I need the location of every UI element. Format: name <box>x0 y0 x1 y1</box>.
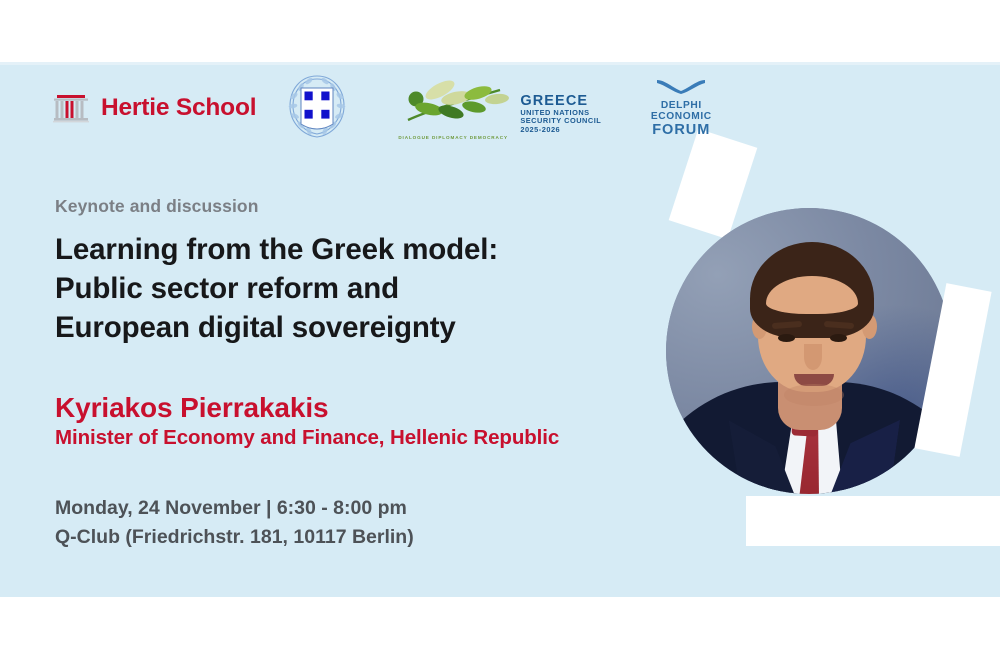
event-kicker: Keynote and discussion <box>55 196 655 217</box>
hertie-school-wordmark: Hertie School <box>101 96 256 121</box>
unsc-line-years: 2025-2026 <box>520 126 601 134</box>
event-headline: Learning from the Greek model: Public se… <box>55 231 655 348</box>
olive-branch-icon: DIALOGUE DIPLOMACY DEMOCRACY <box>396 76 514 144</box>
logo-delphi-economic-forum: DELPHI ECONOMIC FORUM <box>645 74 717 142</box>
portrait-photo <box>666 208 952 494</box>
portrait-nose <box>804 344 822 370</box>
event-venue: Q-Club (Friedrichstr. 181, 10117 Berlin) <box>55 523 655 553</box>
logo-hertie-school: Hertie School <box>52 72 256 144</box>
delphi-line-3: FORUM <box>652 123 710 138</box>
event-date-time: Monday, 24 November | 6:30 - 8:00 pm <box>55 494 655 524</box>
logo-strip: Hertie School <box>52 72 717 144</box>
unsc-line-greece: GREECE <box>520 93 601 109</box>
speaker-name: Kyriakos Pierrakakis <box>55 392 655 424</box>
speaker-role: Minister of Economy and Finance, Helleni… <box>55 426 655 450</box>
poster-content: Keynote and discussion Learning from the… <box>55 196 655 553</box>
decorative-white-bar-bottom <box>746 496 1000 546</box>
event-details: Monday, 24 November | 6:30 - 8:00 pm Q-C… <box>55 494 655 553</box>
portrait-eye-left <box>778 334 795 342</box>
delphi-swoosh-icon <box>655 78 707 99</box>
portrait-eye-right <box>830 334 847 342</box>
delphi-line-2: ECONOMIC <box>651 112 712 123</box>
speaker-portrait <box>666 208 952 494</box>
portrait-chin <box>784 384 844 406</box>
event-poster: Hertie School <box>0 0 1000 667</box>
logo-greece-unsc: DIALOGUE DIPLOMACY DEMOCRACY GREECE UNIT… <box>396 72 601 144</box>
unsc-tagline: DIALOGUE DIPLOMACY DEMOCRACY <box>398 135 508 140</box>
greek-coat-of-arms-icon <box>286 72 348 145</box>
logo-hellenic-republic <box>286 74 348 142</box>
unsc-wordmark: GREECE UNITED NATIONS SECURITY COUNCIL 2… <box>520 93 601 144</box>
hertie-columns-icon <box>52 93 90 124</box>
